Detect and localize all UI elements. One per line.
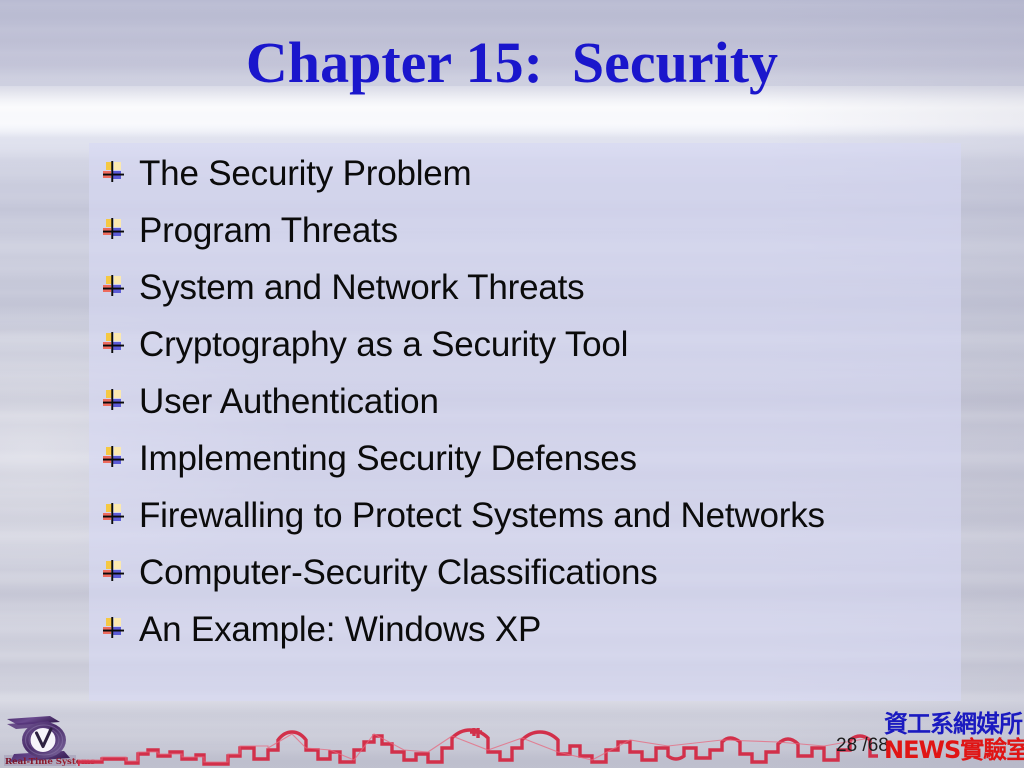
list-item[interactable]: An Example: Windows XP	[103, 608, 1003, 665]
list-item[interactable]: Implementing Security Defenses	[103, 437, 1003, 494]
windows-four-square-bullet-icon	[103, 617, 124, 638]
org-name-line2: NEWS實驗室	[884, 738, 1024, 762]
page-title: Chapter 15: Security	[0, 31, 1024, 95]
list-item-label: The Security Problem	[139, 152, 472, 195]
list-item[interactable]: User Authentication	[103, 380, 1003, 437]
windows-four-square-bullet-icon	[103, 218, 124, 239]
page-number: 28 /68	[836, 735, 889, 757]
org-name-line1: 資工系網媒所	[884, 712, 1024, 736]
windows-four-square-bullet-icon	[103, 332, 124, 353]
list-item-label: Implementing Security Defenses	[139, 437, 637, 480]
windows-four-square-bullet-icon	[103, 161, 124, 182]
list-item[interactable]: Computer-Security Classifications	[103, 551, 1003, 608]
list-item[interactable]: Firewalling to Protect Systems and Netwo…	[103, 494, 1003, 551]
red-city-skyline-decoration	[78, 726, 878, 768]
list-item[interactable]: Cryptography as a Security Tool	[103, 323, 1003, 380]
bullet-list: The Security Problem Program Threats	[103, 152, 1003, 665]
windows-four-square-bullet-icon	[103, 446, 124, 467]
windows-four-square-bullet-icon	[103, 560, 124, 581]
list-item-label: Firewalling to Protect Systems and Netwo…	[139, 494, 825, 537]
list-item[interactable]: System and Network Threats	[103, 266, 1003, 323]
windows-four-square-bullet-icon	[103, 275, 124, 296]
list-item-label: User Authentication	[139, 380, 439, 423]
list-item-label: Cryptography as a Security Tool	[139, 323, 628, 366]
windows-four-square-bullet-icon	[103, 503, 124, 524]
slide-canvas: Chapter 15: Security The Security Proble…	[0, 0, 1024, 768]
list-item[interactable]: Program Threats	[103, 209, 1003, 266]
list-item-label: System and Network Threats	[139, 266, 584, 309]
list-item-label: Computer-Security Classifications	[139, 551, 658, 594]
windows-four-square-bullet-icon	[103, 389, 124, 410]
list-item[interactable]: The Security Problem	[103, 152, 1003, 209]
list-item-label: An Example: Windows XP	[139, 608, 541, 651]
list-item-label: Program Threats	[139, 209, 398, 252]
organization-footer: 資工系網媒所 NEWS實驗室	[884, 712, 1024, 762]
